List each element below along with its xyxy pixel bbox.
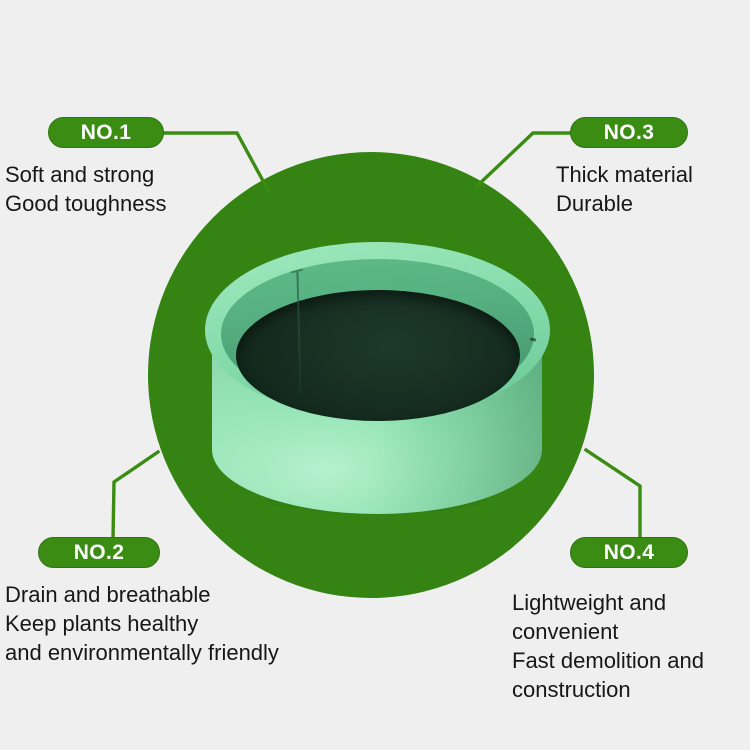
feature-caption-no1: Soft and strong Good toughness (5, 160, 166, 218)
connector-line-no4 (586, 450, 640, 539)
badge-no4[interactable]: NO.4 (570, 537, 688, 568)
feature-caption-no3: Thick material Durable (556, 160, 693, 218)
infographic-canvas: NO.1 Soft and strong Good toughness NO.3… (0, 0, 750, 750)
badge-no2[interactable]: NO.2 (38, 537, 160, 568)
feature-caption-no4: Lightweight and convenient Fast demoliti… (512, 588, 704, 704)
connector-line-no1 (164, 133, 268, 190)
badge-no1[interactable]: NO.1 (48, 117, 164, 148)
badge-no3[interactable]: NO.3 (570, 117, 688, 148)
feature-caption-no2: Drain and breathable Keep plants healthy… (5, 580, 279, 667)
connector-line-no2 (113, 452, 158, 539)
